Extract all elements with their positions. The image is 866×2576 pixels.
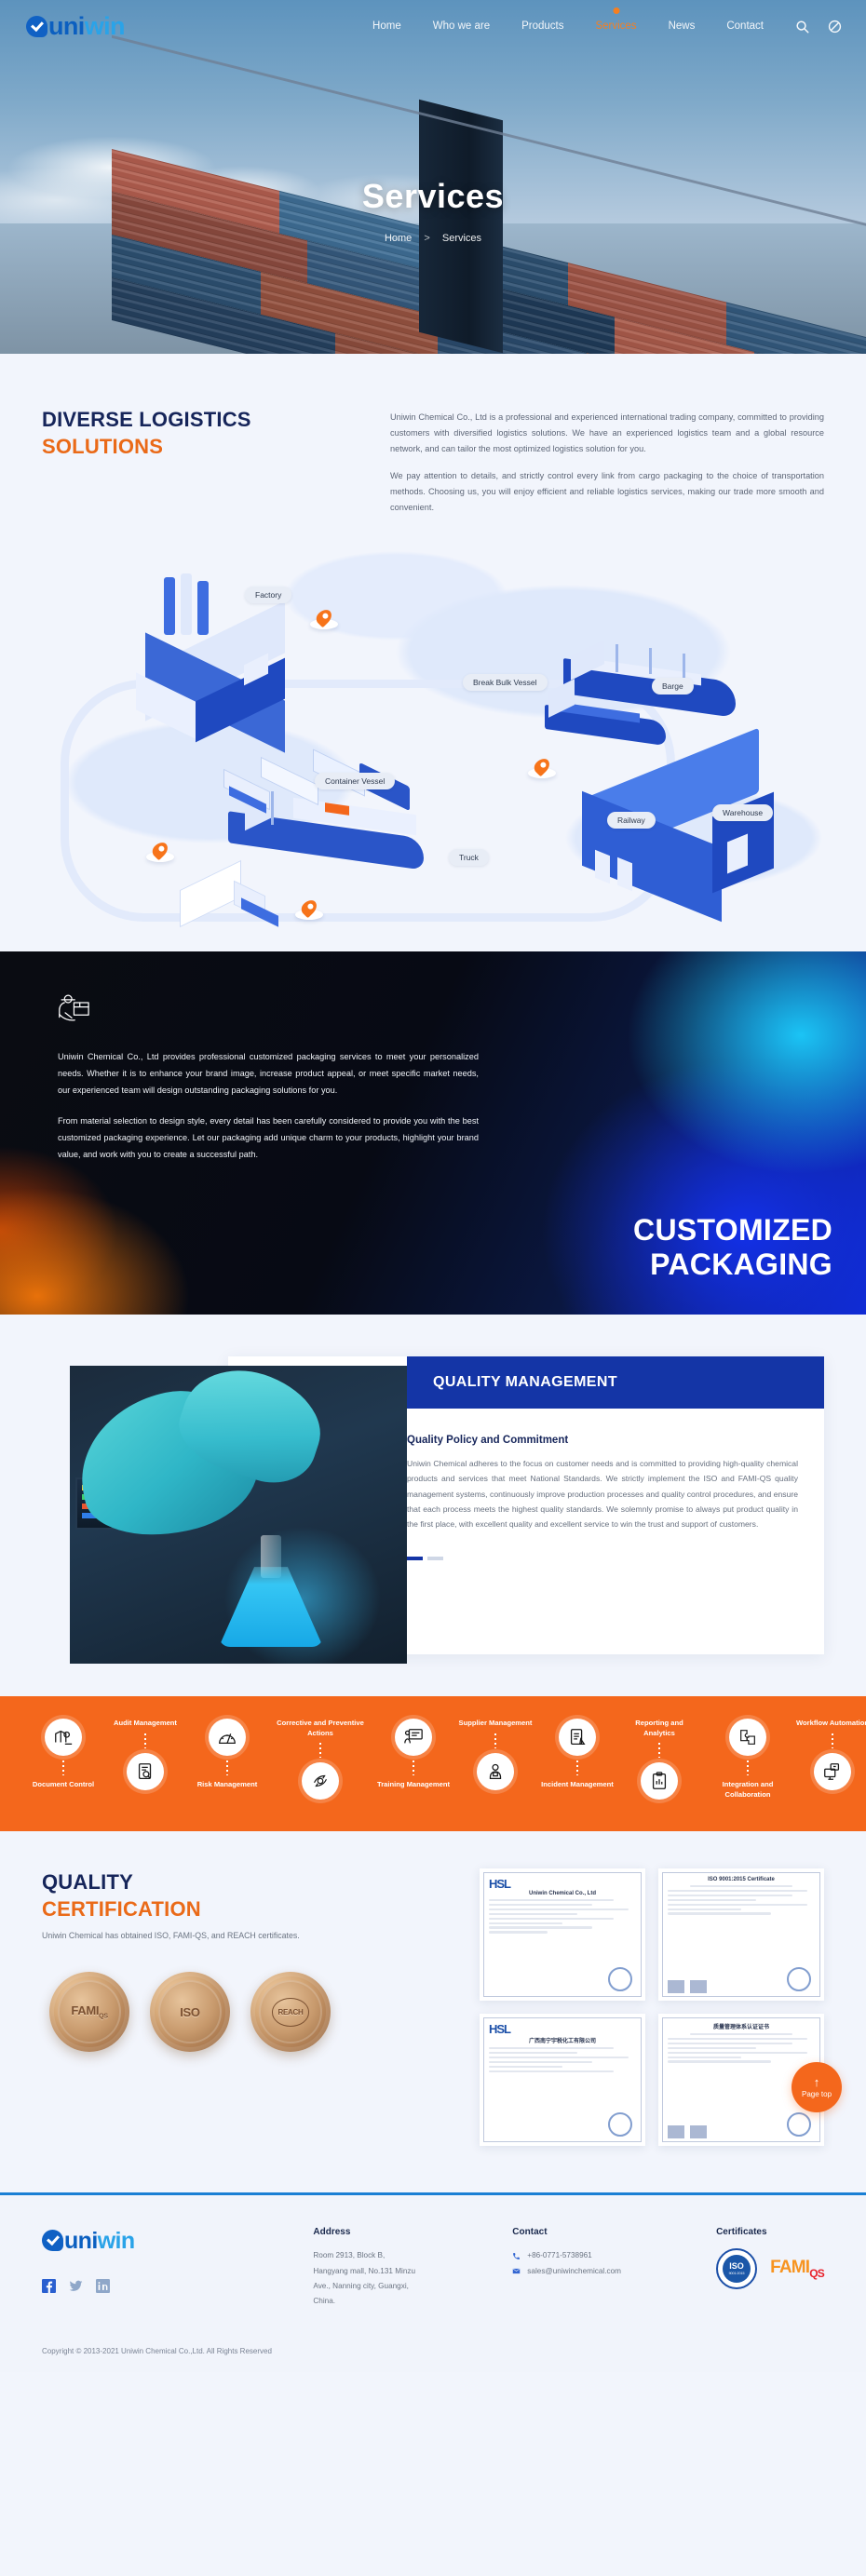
audit-clipboard-icon (127, 1753, 164, 1790)
map-location-pin (310, 607, 338, 629)
certificate-thumbnail-iso[interactable]: ISO 9001:2015 Certificate (658, 1868, 824, 2001)
section-quality-management: QUALITY MANAGEMENT Quality Policy and Co… (0, 1315, 866, 1696)
logistics-text-block: Uniwin Chemical Co., Ltd is a profession… (390, 406, 824, 527)
search-icon[interactable] (795, 20, 809, 34)
logistics-heading-line1: DIVERSE LOGISTICS (42, 408, 251, 431)
nav-links: Home Who we are Products Services News C… (372, 20, 764, 32)
footer-contact-column: Contact +86-0771-5738961 sales@uniwinche… (512, 2227, 688, 2310)
logistics-paragraph-1: Uniwin Chemical Co., Ltd is a profession… (390, 410, 824, 457)
quality-management-banner: QUALITY MANAGEMENT (407, 1356, 824, 1409)
strip-label-workflow-automation: Workflow Automation (792, 1719, 866, 1729)
strip-node-incident-management[interactable]: Incident Management (537, 1719, 617, 1790)
site-footer: uni win Address Room 2913, Block B, Hang… (0, 2192, 866, 2372)
section-customized-packaging: Uniwin Chemical Co., Ltd provides profes… (0, 951, 866, 1315)
medal-reach: REACH (250, 1972, 331, 2052)
certification-medals: FAMIQS ISO REACH (42, 1972, 452, 2052)
page-title: Services (0, 177, 866, 216)
section-diverse-logistics: DIVERSE LOGISTICS SOLUTIONS Uniwin Chemi… (0, 354, 866, 951)
globe-icon[interactable] (828, 20, 842, 34)
risk-gauge-icon (209, 1719, 246, 1756)
breadcrumb: Home > Services (0, 233, 866, 244)
packaging-title-line2: PACKAGING (633, 1248, 832, 1283)
map-tag-truck: Truck (449, 849, 489, 866)
map-tag-barge: Barge (652, 678, 694, 695)
certificate-thumbnail-hsl[interactable]: HSL Uniwin Chemical Co., Ltd (480, 1868, 645, 2001)
certificate-title: Uniwin Chemical Co., Ltd (489, 1891, 636, 1896)
map-tag-break-bulk-vessel: Break Bulk Vessel (463, 674, 548, 691)
flask-graphic (219, 1535, 323, 1647)
main-navigation: uni win Home Who we are Products Service… (0, 0, 866, 52)
strip-node-workflow-automation[interactable]: Workflow Automation (792, 1719, 866, 1790)
strip-label-corrective-actions: Corrective and Preventive Actions (269, 1719, 372, 1738)
certificate-title: ISO 9001:2015 Certificate (668, 1877, 815, 1882)
breadcrumb-home[interactable]: Home (385, 233, 412, 244)
footer-phone-row[interactable]: +86-0771-5738961 (512, 2248, 688, 2263)
corrective-actions-icon (302, 1762, 339, 1800)
certification-heading: QUALITY CERTIFICATION (42, 1868, 452, 1922)
logistics-heading-block: DIVERSE LOGISTICS SOLUTIONS (42, 406, 349, 527)
footer-certificates-column: Certificates ISO 9001:2015 FAMIQS (716, 2227, 824, 2310)
footer-email: sales@uniwinchemical.com (527, 2264, 621, 2279)
strip-label-reporting-analytics: Reporting and Analytics (619, 1719, 699, 1738)
quality-policy-body: Uniwin Chemical adheres to the focus on … (407, 1456, 798, 1532)
linkedin-icon[interactable] (96, 2279, 110, 2293)
medal-famiqs: FAMIQS (49, 1972, 129, 2052)
page-top-button[interactable]: ↑ Page top (792, 2062, 842, 2112)
strip-node-corrective-actions[interactable]: Corrective and Preventive Actions (269, 1719, 372, 1800)
nav-item-news[interactable]: News (669, 20, 696, 32)
certificate-thumbnails: HSL Uniwin Chemical Co., Ltd ISO 9001:20… (480, 1868, 824, 2146)
packaging-title: CUSTOMIZED PACKAGING (633, 1213, 832, 1284)
nav-item-who-we-are[interactable]: Who we are (433, 20, 490, 32)
pagination-dot-2[interactable] (427, 1557, 443, 1560)
facebook-icon[interactable] (42, 2279, 56, 2293)
hero-banner: Services Home > Services uni win Home Wh… (0, 0, 866, 354)
quality-policy-heading: Quality Policy and Commitment (407, 1435, 798, 1446)
nav-item-contact[interactable]: Contact (726, 20, 764, 32)
hero-center-container (419, 100, 503, 353)
packaging-paragraph-1: Uniwin Chemical Co., Ltd provides profes… (58, 1049, 479, 1099)
map-tag-container-vessel: Container Vessel (315, 773, 395, 789)
footer-logo-text-uni: uni (64, 2228, 98, 2255)
footer-address-line-3: Ave., Nanning city, Guangxi, (313, 2279, 484, 2294)
document-control-icon (45, 1719, 82, 1756)
medal-iso: ISO (150, 1972, 230, 2052)
section-quality-certification: QUALITY CERTIFICATION Uniwin Chemical ha… (0, 1831, 866, 2192)
certificate-thumbnail-hsl-cn[interactable]: HSL 广西南宁宇税化工有限公司 (480, 2014, 645, 2146)
integration-puzzle-icon (729, 1719, 766, 1756)
famiqs-main: FAMI (770, 2258, 809, 2277)
logo-text-uni: uni (48, 14, 85, 39)
famiqs-sub: QS (809, 2267, 824, 2280)
strip-node-audit-management[interactable]: Audit Management (105, 1719, 185, 1790)
logistics-isometric-map: Factory Break Bulk Vessel Container Vess… (42, 540, 824, 931)
nav-item-home[interactable]: Home (372, 20, 401, 32)
strip-node-document-control[interactable]: Document Control (23, 1719, 103, 1790)
iso-certified-seal-icon: ISO 9001:2015 (716, 2248, 757, 2289)
map-location-pin (146, 840, 174, 862)
footer-phone: +86-0771-5738961 (527, 2248, 591, 2263)
arrow-up-icon: ↑ (814, 2076, 820, 2088)
strip-label-training-management: Training Management (373, 1780, 453, 1790)
reporting-clipboard-icon (641, 1762, 678, 1800)
footer-logo-text-win: win (98, 2228, 135, 2255)
supplier-person-icon (477, 1753, 514, 1790)
strip-node-reporting-analytics[interactable]: Reporting and Analytics (619, 1719, 699, 1800)
strip-label-risk-management: Risk Management (187, 1780, 267, 1790)
map-tag-factory: Factory (245, 587, 291, 603)
breadcrumb-separator: > (424, 233, 429, 244)
twitter-icon[interactable] (69, 2279, 83, 2293)
footer-copyright: Copyright © 2013-2021 Uniwin Chemical Co… (42, 2334, 824, 2372)
strip-node-risk-management[interactable]: Risk Management (187, 1719, 267, 1790)
packaging-paragraph-2: From material selection to design style,… (58, 1113, 479, 1164)
footer-social-links (42, 2279, 285, 2293)
quality-management-pagination[interactable] (407, 1557, 798, 1560)
footer-address-line-4: China. (313, 2294, 484, 2309)
certification-heading-line2: CERTIFICATION (42, 1895, 452, 1922)
logistics-heading-line2: SOLUTIONS (42, 433, 349, 460)
footer-address-column: Address Room 2913, Block B, Hangyang mal… (313, 2227, 484, 2310)
pagination-dot-1[interactable] (407, 1557, 423, 1560)
footer-logo[interactable]: uni win (42, 2227, 285, 2255)
iso-seal-name: ISO (729, 2262, 744, 2271)
map-location-pin (295, 897, 323, 920)
page-top-label: Page top (802, 2090, 832, 2098)
packaging-title-line1: CUSTOMIZED (633, 1213, 832, 1248)
strip-label-incident-management: Incident Management (537, 1780, 617, 1790)
footer-address-line-2: Hangyang mall, No.131 Minzu (313, 2264, 484, 2279)
strip-label-document-control: Document Control (23, 1780, 103, 1790)
strip-label-audit-management: Audit Management (105, 1719, 185, 1729)
logistics-heading: DIVERSE LOGISTICS SOLUTIONS (42, 406, 349, 460)
certificate-title: 广西南宁宇税化工有限公司 (489, 2036, 636, 2044)
iso-seal-standard: 9001:2015 (729, 2272, 745, 2275)
workflow-monitor-icon (814, 1753, 851, 1790)
map-railway-illustration (223, 750, 466, 830)
certificate-title: 质量管理体系认证证书 (668, 2022, 815, 2030)
certification-heading-line1: QUALITY (42, 1870, 133, 1894)
footer-email-row[interactable]: sales@uniwinchemical.com (512, 2264, 688, 2279)
certificate-logo-hsl-cn: HSL (489, 2022, 636, 2036)
nav-item-products[interactable]: Products (521, 20, 563, 32)
certification-subtitle: Uniwin Chemical has obtained ISO, FAMI-Q… (42, 1931, 452, 1940)
map-tag-railway: Railway (607, 812, 656, 829)
map-warehouse-illustration (563, 763, 796, 922)
map-factory-illustration (130, 577, 335, 754)
footer-logo-check-badge-icon (42, 2230, 63, 2251)
training-board-icon (395, 1719, 432, 1756)
section-qms-capabilities-strip: Document Control Audit Management Risk M… (0, 1696, 866, 1831)
nav-icon-group (795, 20, 842, 34)
certificate-logo-hsl: HSL (489, 1877, 636, 1891)
footer-contact-heading: Contact (512, 2227, 688, 2237)
famiqs-logo: FAMIQS (770, 2258, 824, 2280)
site-logo[interactable]: uni win (26, 13, 125, 39)
footer-address-heading: Address (313, 2227, 484, 2237)
nav-item-services[interactable]: Services (595, 20, 636, 32)
email-icon (512, 2267, 521, 2275)
packaging-worker-icon (58, 992, 93, 1026)
logo-text-win: win (85, 14, 125, 39)
quality-lab-photo (70, 1366, 407, 1664)
strip-label-supplier-management: Supplier Management (455, 1719, 535, 1729)
strip-node-integration-collaboration[interactable]: Integration and Collaboration (701, 1719, 794, 1800)
footer-address-line-1: Room 2913, Block B, (313, 2248, 484, 2263)
phone-icon (512, 2252, 521, 2260)
strip-label-integration-collaboration: Integration and Collaboration (701, 1780, 794, 1800)
map-tag-warehouse: Warehouse (712, 804, 773, 821)
map-location-pin (528, 756, 556, 778)
incident-checklist-icon (559, 1719, 596, 1756)
strip-node-supplier-management[interactable]: Supplier Management (455, 1719, 535, 1790)
logistics-paragraph-2: We pay attention to details, and strictl… (390, 468, 824, 516)
strip-node-training-management[interactable]: Training Management (373, 1719, 453, 1790)
breadcrumb-current: Services (442, 233, 481, 244)
logo-check-badge-icon (26, 16, 47, 37)
footer-certificates-heading: Certificates (716, 2227, 824, 2237)
